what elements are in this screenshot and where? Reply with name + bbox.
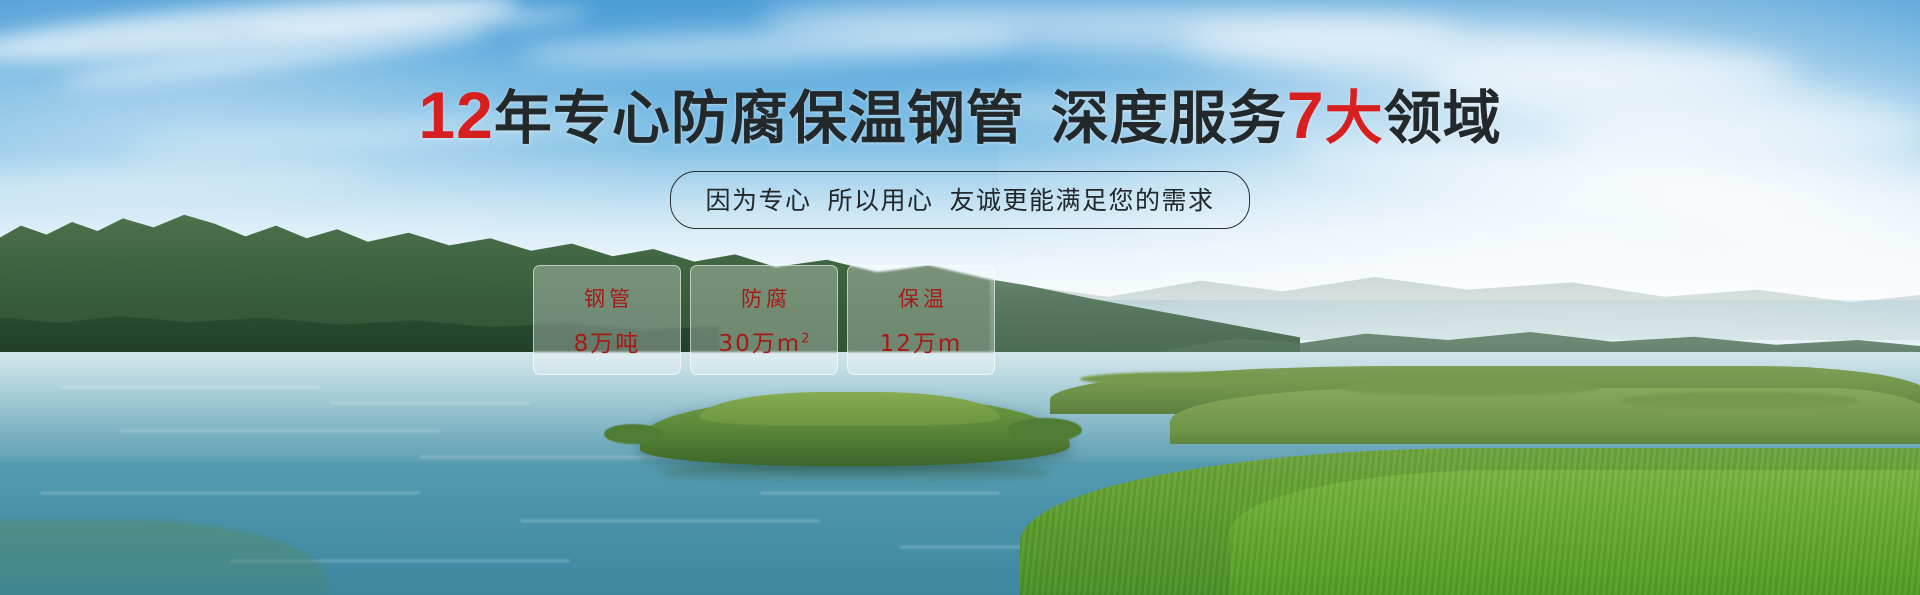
water-ripple bbox=[330, 402, 530, 404]
stat-value-superscript: 2 bbox=[801, 331, 809, 346]
headline-part-3: 领域 bbox=[1384, 84, 1502, 152]
stat-card-value: 8万吨 bbox=[574, 324, 641, 358]
stat-card-anticorrosion[interactable]: 防腐 30万m2 bbox=[690, 265, 838, 375]
stat-card-title: 钢管 bbox=[580, 283, 634, 313]
fields-number: 7 bbox=[1287, 78, 1325, 152]
marsh-patch bbox=[1080, 372, 1290, 386]
small-islet bbox=[604, 424, 662, 444]
island-grass-crown bbox=[700, 392, 1000, 426]
water-ripple bbox=[120, 430, 440, 432]
subtitle-segment-3: 友诚更能满足您的需求 bbox=[950, 186, 1215, 215]
stat-card-insulation[interactable]: 保温 12万m bbox=[847, 265, 995, 375]
page-title: 12年专心防腐保温钢管深度服务7大领域 bbox=[0, 82, 1920, 148]
headline-red-suffix: 大 bbox=[1325, 84, 1384, 152]
subtitle-container: 因为专心所以用心友诚更能满足您的需求 bbox=[0, 171, 1920, 229]
stat-card-title: 防腐 bbox=[737, 283, 791, 313]
years-number: 12 bbox=[418, 78, 493, 152]
headline-part-1: 年专心防腐保温钢管 bbox=[494, 84, 1025, 152]
stat-value-text: 30万m bbox=[719, 331, 802, 357]
marsh-patch bbox=[1620, 392, 1860, 410]
water-ripple bbox=[40, 492, 420, 494]
subtitle-pill: 因为专心所以用心友诚更能满足您的需求 bbox=[670, 171, 1249, 229]
stat-value-text: 8万吨 bbox=[574, 331, 641, 357]
water-ripple bbox=[60, 386, 320, 388]
subtitle-segment-1: 因为专心 bbox=[705, 186, 811, 215]
water-ripple bbox=[520, 520, 820, 522]
marsh-patch bbox=[1340, 380, 1600, 396]
stat-value-text: 12万m bbox=[880, 331, 963, 357]
headline-part-2: 深度服务 bbox=[1051, 84, 1287, 152]
small-islet bbox=[1008, 418, 1082, 442]
subtitle-segment-2: 所以用心 bbox=[827, 186, 933, 215]
hero-banner: 12年专心防腐保温钢管深度服务7大领域 因为专心所以用心友诚更能满足您的需求 钢… bbox=[0, 0, 1920, 595]
stat-card-value: 12万m bbox=[880, 324, 963, 358]
stat-card-value: 30万m2 bbox=[719, 324, 810, 358]
water-ripple bbox=[760, 492, 1000, 494]
stat-card-title: 保温 bbox=[894, 283, 948, 313]
stat-card-steel-pipe[interactable]: 钢管 8万吨 bbox=[533, 265, 681, 375]
stat-cards: 钢管 8万吨 防腐 30万m2 保温 12万m bbox=[533, 265, 995, 375]
